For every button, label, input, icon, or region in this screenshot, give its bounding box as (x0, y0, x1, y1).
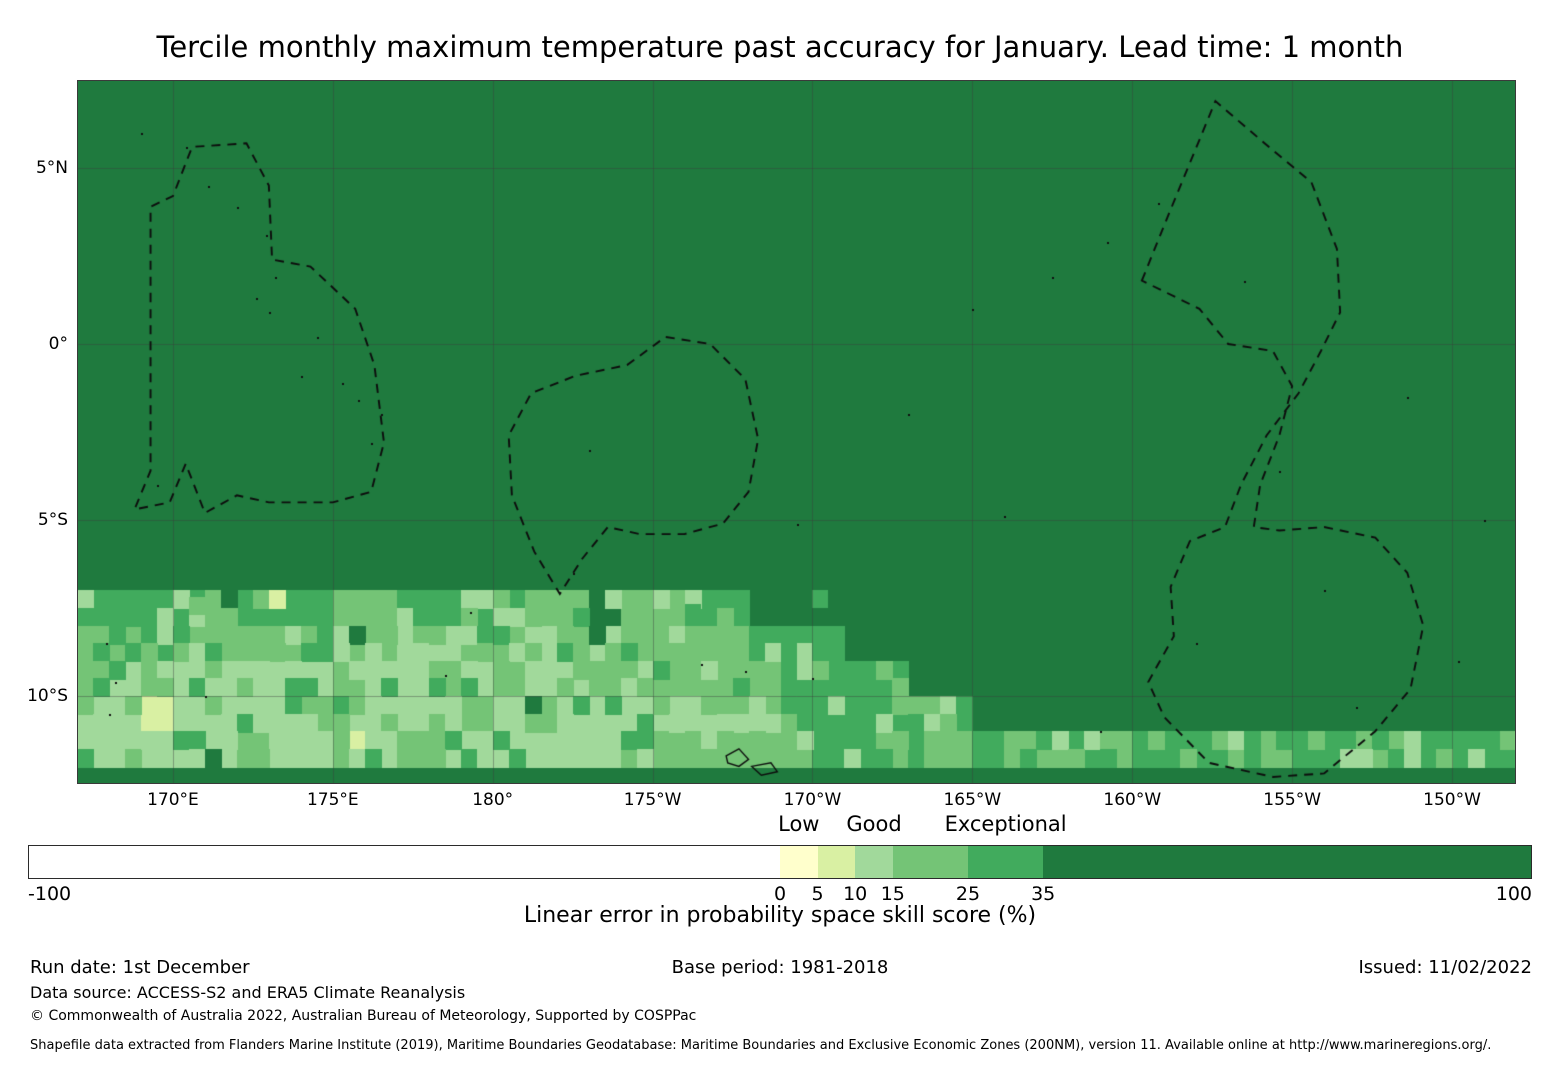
colorbar-category-label: Good (846, 812, 901, 836)
page-title: Tercile monthly maximum temperature past… (0, 30, 1560, 64)
heatmap-canvas[interactable] (77, 80, 1516, 784)
colorbar-tick-label: 5 (812, 883, 824, 905)
base-period-text: Base period: 1981-2018 (0, 957, 1560, 978)
x-axis-tick-label: 170°E (113, 790, 233, 810)
colorbar-segment (818, 846, 856, 878)
colorbar-segment (29, 846, 780, 878)
shapefile-attribution-text: Shapefile data extracted from Flanders M… (30, 1038, 1491, 1053)
colorbar-tick-label: 0 (774, 883, 786, 905)
x-axis-tick-label: 160°W (1072, 790, 1192, 810)
colorbar-segment (893, 846, 968, 878)
y-axis-tick-label: 5°S (6, 510, 68, 530)
x-axis-tick-label: 175°W (593, 790, 713, 810)
colorbar-tick-label: 25 (956, 883, 980, 905)
colorbar-gradient (28, 845, 1532, 879)
colorbar-segment (1043, 846, 1531, 878)
colorbar-category-label: Low (778, 812, 819, 836)
issued-date-text: Issued: 11/02/2022 (1358, 957, 1532, 978)
x-axis-tick-label: 175°E (273, 790, 393, 810)
y-axis-tick-label: 5°N (6, 158, 68, 178)
colorbar-tick-label: 100 (1496, 883, 1532, 905)
x-axis-tick-label: 150°W (1392, 790, 1512, 810)
map-plot-area[interactable] (77, 80, 1516, 784)
x-axis-tick-label: 180° (433, 790, 553, 810)
x-axis-tick-label: 155°W (1232, 790, 1352, 810)
colorbar-axis-label: Linear error in probability space skill … (0, 903, 1560, 928)
colorbar-tick-label: -100 (28, 883, 71, 905)
x-axis-tick-label: 170°W (752, 790, 872, 810)
colorbar-tick-label: 35 (1031, 883, 1055, 905)
colorbar[interactable]: -1000510152535100 LowGoodExceptional (28, 845, 1532, 879)
copyright-text: © Commonwealth of Australia 2022, Austra… (30, 1005, 696, 1027)
colorbar-category-label: Exceptional (945, 812, 1067, 836)
colorbar-tick-label: 10 (843, 883, 867, 905)
colorbar-tick-label: 15 (881, 883, 905, 905)
data-source-text: Data source: ACCESS-S2 and ERA5 Climate … (30, 981, 696, 1005)
x-axis-tick-label: 165°W (912, 790, 1032, 810)
colorbar-segment (780, 846, 818, 878)
colorbar-segment (968, 846, 1043, 878)
y-axis-tick-label: 0° (6, 334, 68, 354)
y-axis-tick-label: 10°S (6, 686, 68, 706)
colorbar-segment (855, 846, 893, 878)
